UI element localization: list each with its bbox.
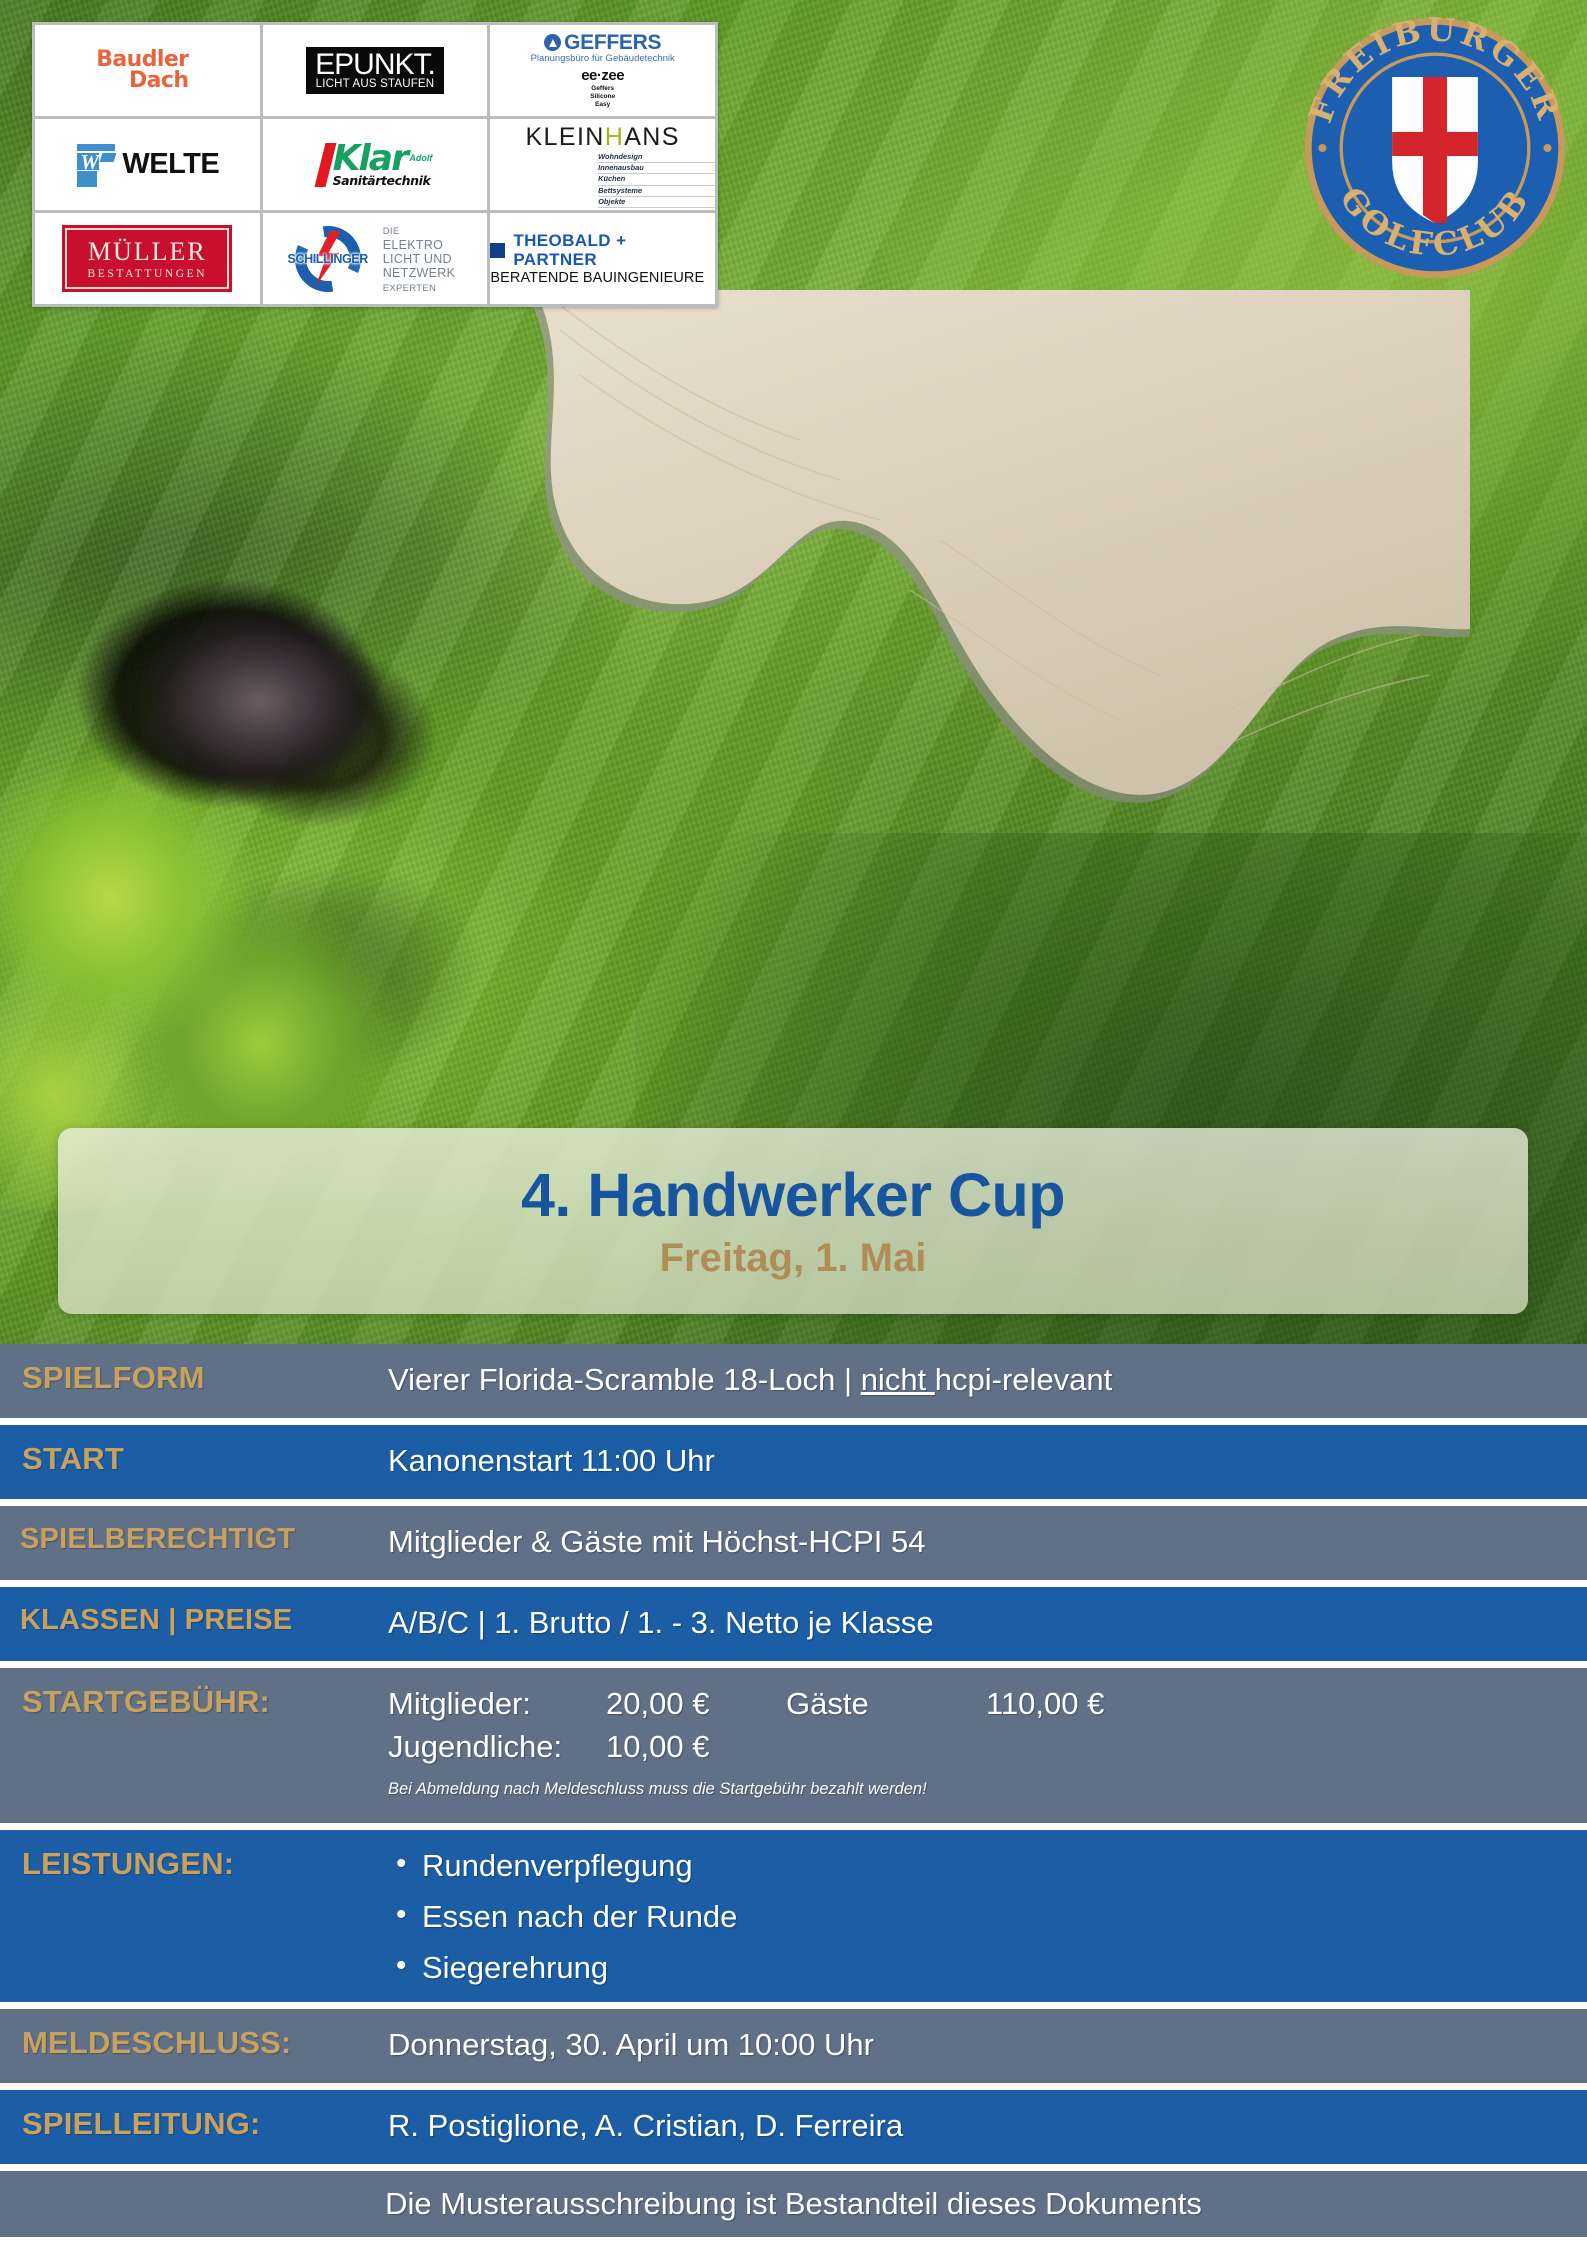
fee-youth-price: 10,00 € (606, 1728, 786, 1767)
fee-guests-label: Gäste (786, 1685, 986, 1724)
kleinhans-service-5: Objekte (598, 197, 715, 208)
schillinger-name: SCHILLINGER (287, 252, 369, 266)
service-item: Rundenverpflegung (388, 1847, 1567, 1886)
info-row-spielberechtigt: SPIELBERECHTIGT Mitglieder & Gäste mit H… (0, 1506, 1587, 1580)
spielform-post: hcpi-relevant (935, 1362, 1112, 1397)
tournament-poster: Baudler Dach EPUNKT. LICHT AUS STAUFEN G… (0, 0, 1587, 2245)
geffers-tagline: Planungsbüro für Gebäudetechnik (531, 54, 675, 64)
welte-w-icon: W (75, 142, 117, 188)
sponsor-logo-baudler-dach[interactable]: Baudler Dach (35, 25, 260, 116)
value-spielleitung: R. Postiglione, A. Cristian, D. Ferreira (388, 2090, 1587, 2159)
kleinhans-h-highlight: H (605, 123, 624, 151)
kleinhans-service-1: Wohndesign (598, 152, 715, 163)
schillinger-tag-5: EXPERTEN (383, 283, 436, 294)
service-item: Essen nach der Runde (388, 1898, 1567, 1937)
geffers-fine-2: Silicone (531, 93, 675, 101)
sponsor-logo-grid: Baudler Dach EPUNKT. LICHT AUS STAUFEN G… (32, 22, 718, 307)
baudler-line2: Dach (96, 71, 188, 92)
spielform-underlined: nicht (861, 1362, 935, 1397)
freiburger-golfclub-crest: FREIBURGER GOLFCLUB (1301, 14, 1569, 282)
epunkt-tagline: LICHT AUS STAUFEN (315, 79, 435, 91)
sponsor-logo-schillinger[interactable]: SCHILLINGER DIE ELEKTRO LICHT UND NETZWE… (263, 213, 488, 304)
value-spielform: Vierer Florida-Scramble 18-Loch | nicht … (388, 1344, 1587, 1413)
event-title: 4. Handwerker Cup (521, 1165, 1065, 1226)
service-item: Siegerehrung (388, 1949, 1567, 1988)
info-row-klassen-preise: KLASSEN | PREISE A/B/C | 1. Brutto / 1. … (0, 1587, 1587, 1661)
value-startgebuehr: Mitglieder: 20,00 € Gäste 110,00 € Jugen… (388, 1668, 1587, 1812)
info-row-spielleitung: SPIELLEITUNG: R. Postiglione, A. Cristia… (0, 2090, 1587, 2164)
kleinhans-service-3: Küchen (598, 174, 715, 185)
value-spielberechtigt: Mitglieder & Gäste mit Höchst-HCPI 54 (388, 1506, 1587, 1575)
geffers-name: GEFFERS (564, 32, 661, 54)
epunkt-name: EPUNKT. (315, 50, 435, 80)
kleinhans-part1: KLEIN (525, 123, 604, 151)
mueller-tagline: BESTATTUNGEN (87, 268, 207, 281)
info-row-start: START Kanonenstart 11:00 Uhr (0, 1425, 1587, 1499)
sponsor-logo-epunkt[interactable]: EPUNKT. LICHT AUS STAUFEN (263, 25, 488, 116)
geffers-fine-1: Geffers (531, 85, 675, 93)
tournament-info-table: SPIELFORM Vierer Florida-Scramble 18-Loc… (0, 1344, 1587, 2237)
title-banner: 4. Handwerker Cup Freitag, 1. Mai (58, 1128, 1528, 1314)
value-start: Kanonenstart 11:00 Uhr (388, 1425, 1587, 1494)
value-leistungen: Rundenverpflegung Essen nach der Runde S… (388, 1830, 1587, 2002)
schillinger-tag-1: DIE (383, 226, 400, 237)
fee-members-price: 20,00 € (606, 1685, 786, 1724)
kleinhans-service-2: Innenausbau (598, 163, 715, 174)
geffers-fine-3: Easy (531, 101, 675, 109)
label-spielform: SPIELFORM (0, 1344, 388, 1407)
fee-members-label: Mitglieder: (388, 1685, 606, 1724)
value-meldeschluss: Donnerstag, 30. April um 10:00 Uhr (388, 2009, 1587, 2078)
label-leistungen: LEISTUNGEN: (0, 1830, 388, 1893)
services-list: Rundenverpflegung Essen nach der Runde S… (388, 1847, 1567, 1987)
info-row-meldeschluss: MELDESCHLUSS: Donnerstag, 30. April um 1… (0, 2009, 1587, 2083)
geffers-eezee-name: ee·zee (531, 68, 675, 84)
schillinger-bolt-icon: SCHILLINGER (295, 226, 361, 292)
info-row-leistungen: LEISTUNGEN: Rundenverpflegung Essen nach… (0, 1830, 1587, 2002)
kleinhans-part2: ANS (624, 123, 680, 151)
schillinger-tag-2: ELEKTRO (383, 238, 443, 252)
sponsor-logo-geffers[interactable]: GEFFERS Planungsbüro für Gebäudetechnik … (490, 25, 715, 116)
label-meldeschluss: MELDESCHLUSS: (0, 2009, 388, 2072)
fee-youth-label: Jugendliche: (388, 1728, 606, 1767)
spielform-pre: Vierer Florida-Scramble 18-Loch | (388, 1362, 861, 1397)
mueller-name: MÜLLER (87, 237, 207, 266)
kleinhans-service-4: Bettsysteme (598, 186, 715, 197)
schillinger-tag-4: NETZWERK (383, 266, 456, 280)
event-date: Freitag, 1. Mai (660, 1238, 927, 1278)
klar-tagline: Sanitärtechnik (333, 175, 431, 186)
theobald-tagline: BERATENDE BAUINGENIEURE (490, 270, 715, 287)
welte-name: WELTE (122, 148, 219, 181)
label-startgebuehr: STARTGEBÜHR: (0, 1668, 388, 1731)
sponsor-logo-theobald-partner[interactable]: THEOBALD + PARTNER BERATENDE BAUINGENIEU… (490, 213, 715, 304)
sponsor-logo-kleinhans[interactable]: KLEINHANS Wohndesign Innenausbau Küchen … (490, 119, 715, 210)
sponsor-logo-mueller-bestattungen[interactable]: MÜLLER BESTATTUNGEN (35, 213, 260, 304)
label-spielberechtigt: SPIELBERECHTIGT (0, 1506, 388, 1566)
schillinger-tag-3: LICHT UND (383, 252, 452, 266)
sponsor-logo-welte[interactable]: W WELTE (35, 119, 260, 210)
info-row-startgebuehr: STARTGEBÜHR: Mitglieder: 20,00 € Gäste 1… (0, 1668, 1587, 1823)
fee-cancellation-note: Bei Abmeldung nach Meldeschluss muss die… (388, 1779, 1567, 1800)
copper-beech-highlight (90, 580, 430, 850)
klar-firstname: Adolf (409, 153, 432, 163)
label-start: START (0, 1425, 388, 1488)
geffers-house-icon (544, 34, 561, 51)
sponsor-logo-klar[interactable]: Klar Sanitärtechnik Adolf (263, 119, 488, 210)
footer-note: Die Musterausschreibung ist Bestandteil … (0, 2171, 1587, 2237)
value-klassen-preise: A/B/C | 1. Brutto / 1. - 3. Netto je Kla… (388, 1587, 1587, 1656)
sand-bunker (470, 290, 1470, 970)
info-row-spielform: SPIELFORM Vierer Florida-Scramble 18-Loc… (0, 1344, 1587, 1418)
label-spielleitung: SPIELLEITUNG: (0, 2090, 388, 2153)
theobald-square-icon (490, 243, 505, 258)
theobald-name: THEOBALD + PARTNER (513, 231, 715, 270)
fee-guests-price: 110,00 € (986, 1685, 1567, 1724)
label-klassen-preise: KLASSEN | PREISE (0, 1587, 388, 1647)
